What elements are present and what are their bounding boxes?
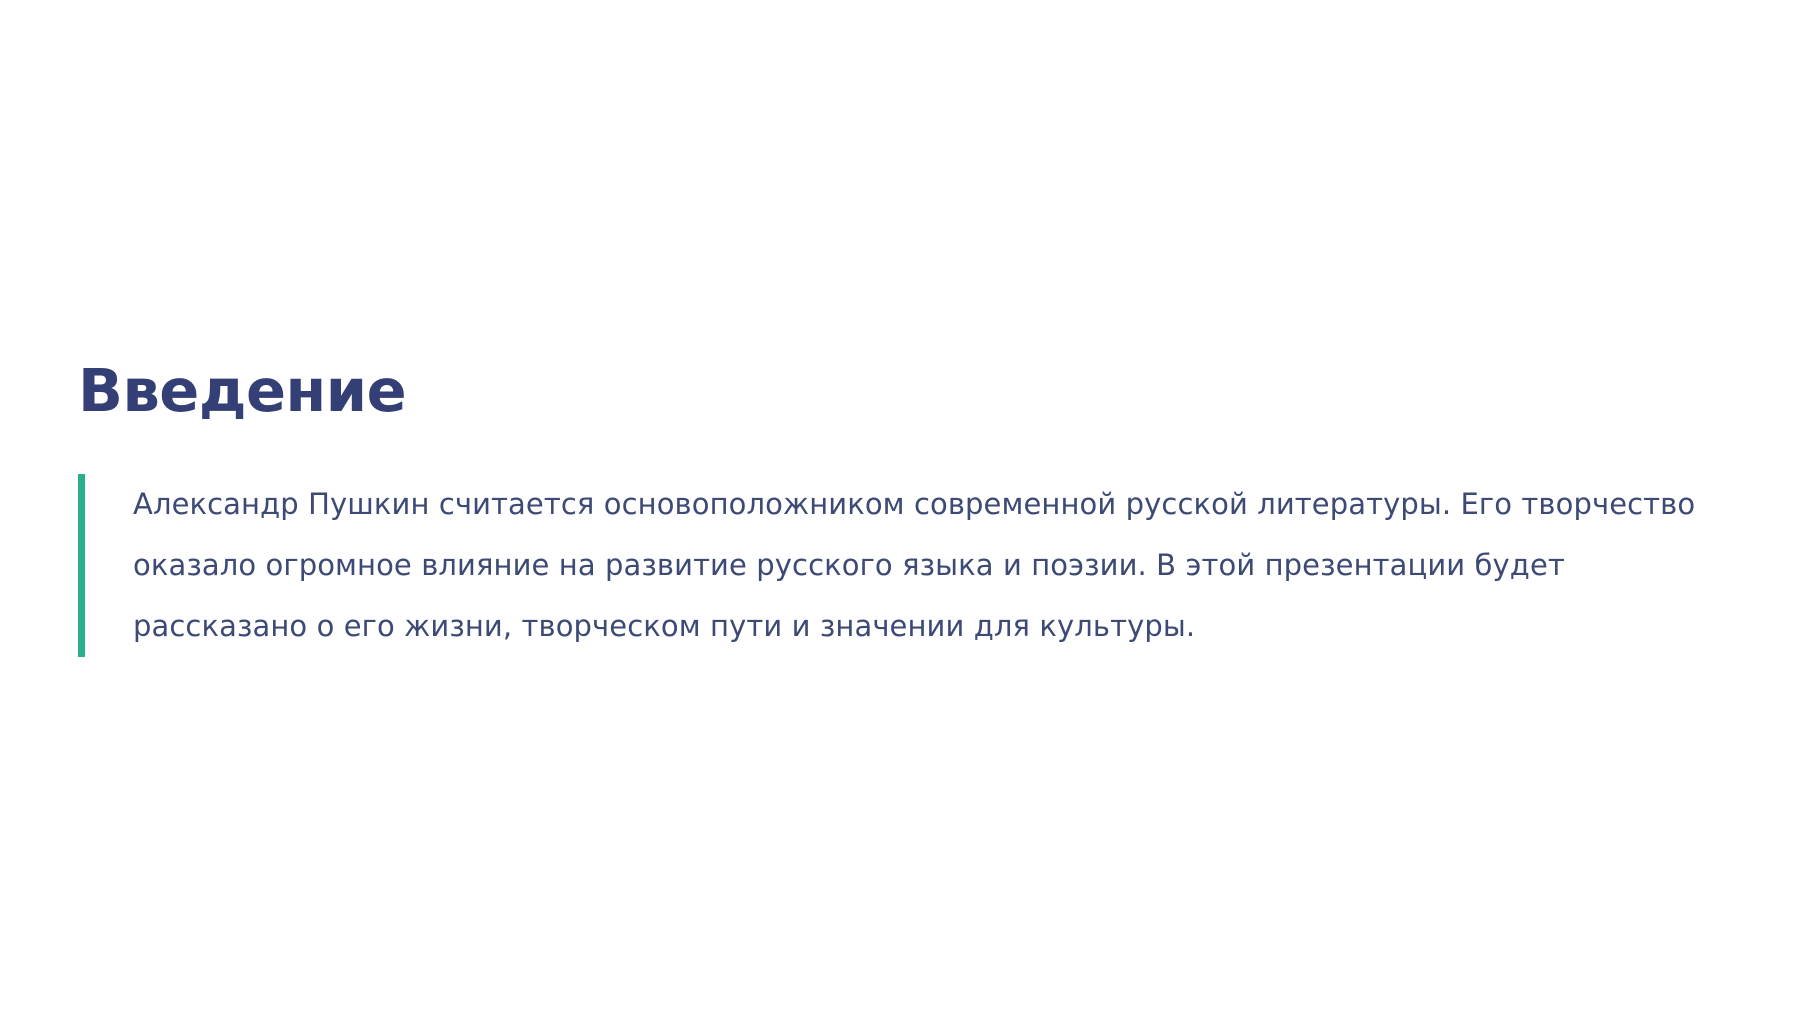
slide-content: Введение Александр Пушкин считается осно… <box>78 360 1758 657</box>
page-title: Введение <box>78 360 1758 422</box>
body-text-container: Александр Пушкин считается основоположни… <box>85 474 1745 657</box>
presentation-slide: Введение Александр Пушкин считается осно… <box>0 0 1800 1013</box>
body-block: Александр Пушкин считается основоположни… <box>78 474 1758 657</box>
accent-bar <box>78 474 85 657</box>
body-paragraph: Александр Пушкин считается основоположни… <box>133 474 1743 657</box>
